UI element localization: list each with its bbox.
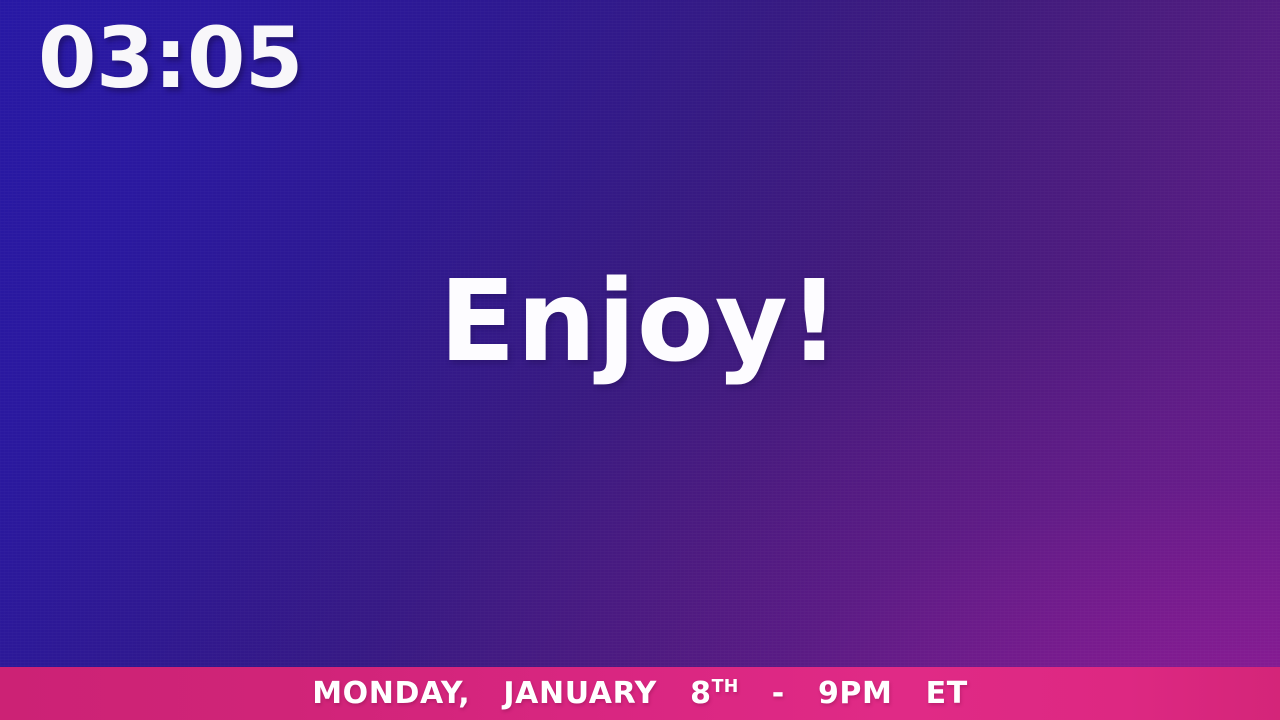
broadcast-countdown-slate: 03:05 Enjoy! MONDAY, JANUARY 8TH - 9PM E… <box>0 0 1280 720</box>
headline-container: Enjoy! <box>0 0 1280 667</box>
banner-space-3 <box>750 676 761 711</box>
banner-date-number: 8 <box>690 676 711 711</box>
banner-timezone: ET <box>926 676 968 711</box>
headline-text: Enjoy! <box>439 266 841 378</box>
banner-time: 9PM <box>818 676 893 711</box>
banner-date-ordinal-suffix: TH <box>712 677 739 697</box>
banner-space-2 <box>668 676 679 711</box>
banner-day: MONDAY, <box>312 676 470 711</box>
banner-space-4 <box>796 676 807 711</box>
banner-month: JANUARY <box>503 676 657 711</box>
banner-space-5 <box>904 676 915 711</box>
schedule-banner: MONDAY, JANUARY 8TH - 9PM ET <box>0 667 1280 720</box>
banner-space-1 <box>481 676 492 711</box>
banner-separator: - <box>772 676 785 711</box>
schedule-banner-text: MONDAY, JANUARY 8TH - 9PM ET <box>312 679 968 709</box>
